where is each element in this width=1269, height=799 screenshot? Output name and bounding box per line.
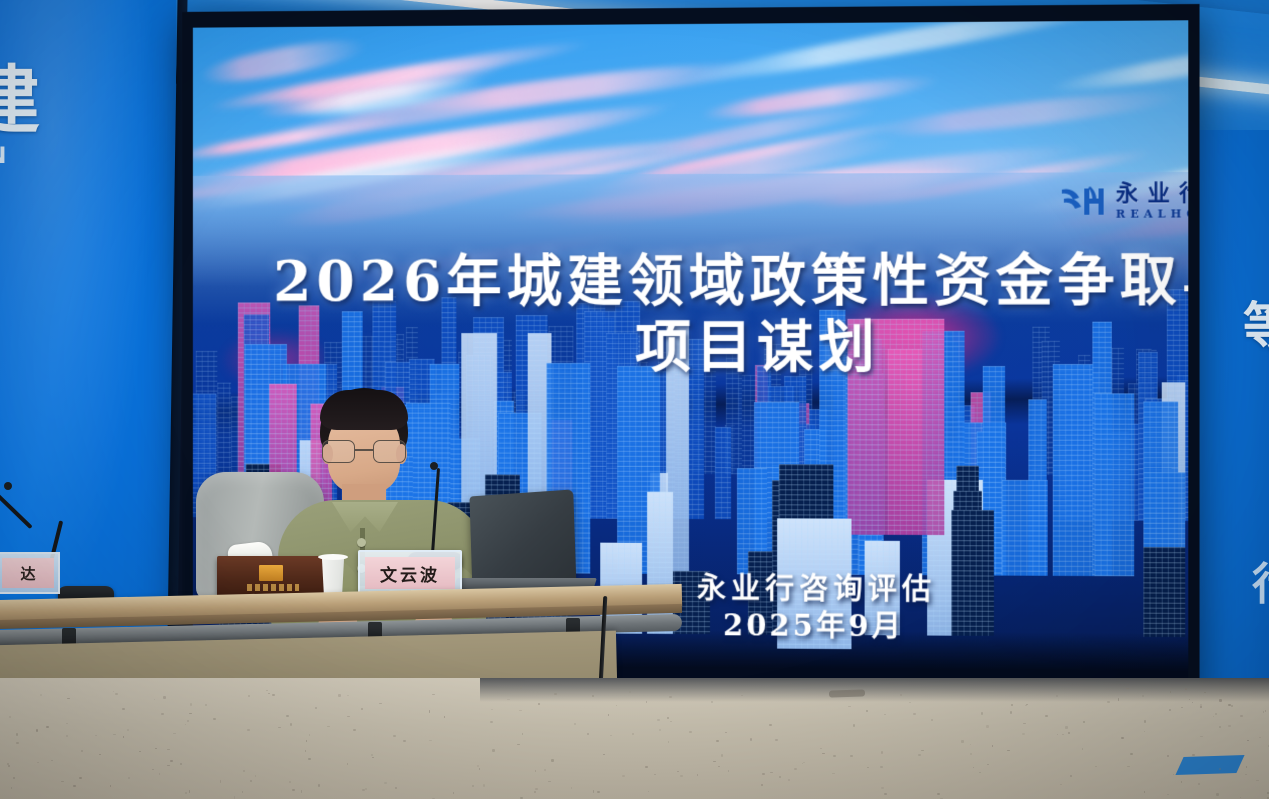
floor-texture-speck — [180, 763, 182, 765]
slide-footer: 永业行咨询评估 2025年9月 — [697, 570, 936, 646]
floor-texture-speck — [775, 739, 778, 741]
floor-texture-speck — [115, 693, 118, 695]
floor-texture-speck — [16, 733, 18, 735]
floor-texture-speck — [243, 770, 244, 771]
floor-texture-speck — [788, 779, 790, 781]
floor-texture-speck — [610, 735, 612, 736]
sky-cloud — [1046, 25, 1188, 100]
city-building — [1144, 547, 1186, 637]
floor-texture-speck — [1200, 736, 1203, 737]
brand-name-en: REALHOM — [1116, 208, 1188, 219]
floor-texture-speck — [534, 791, 536, 793]
floor-texture-speck — [616, 705, 617, 706]
floor-texture-speck — [986, 725, 989, 727]
microphone-head-icon — [430, 462, 438, 470]
floor-texture-speck — [429, 710, 431, 713]
city-building — [1094, 394, 1134, 577]
floor-texture-speck — [1219, 768, 1222, 770]
wall-right-glyph: 等 — [1243, 300, 1269, 430]
paper-cup-rim — [318, 554, 348, 560]
floor-texture-speck — [308, 758, 310, 760]
floor-texture-speck — [1121, 737, 1124, 739]
glasses-lens-right — [373, 440, 406, 463]
floor-texture-speck — [189, 713, 192, 714]
slide-footer-date: 2025年9月 — [697, 606, 936, 646]
city-building — [1002, 480, 1047, 576]
city-haze — [193, 172, 1188, 324]
floor-texture-speck — [315, 707, 317, 708]
nameplate-left: 达 — [0, 552, 60, 594]
floor-texture-speck — [1216, 793, 1219, 796]
floor-texture-speck — [190, 703, 192, 705]
floor-texture-speck — [309, 734, 310, 735]
floor-texture-speck — [353, 729, 356, 731]
floor-texture-speck — [669, 696, 672, 698]
floor-texture-speck — [551, 759, 554, 762]
floor-texture-speck — [1107, 701, 1110, 703]
brand-text: 永业行 REALHOM — [1116, 182, 1188, 220]
floor-texture-speck — [517, 744, 520, 745]
floor-texture-speck — [1240, 797, 1241, 798]
floor-texture-speck — [1256, 780, 1259, 782]
floor-texture-speck — [163, 696, 166, 699]
floor-texture-speck — [327, 726, 330, 727]
floor-texture-speck — [61, 781, 64, 782]
floor-texture-speck — [884, 793, 887, 795]
conference-room-scene: 建 AN 等 行 — [0, 0, 1269, 799]
person-shirt-button — [357, 538, 366, 547]
floor-texture-speck — [1144, 791, 1145, 793]
nameplate-left-text: 达 — [20, 563, 35, 584]
floor-texture-speck — [1127, 766, 1129, 768]
floor-texture-speck — [128, 777, 130, 779]
floor-texture-speck — [850, 755, 853, 757]
floor-texture-speck — [1026, 704, 1027, 705]
floor-texture-speck — [361, 708, 363, 710]
floor-texture-speck — [554, 693, 557, 694]
brand-name-cn: 永业行 — [1116, 182, 1188, 205]
floor-texture-speck — [507, 699, 510, 700]
sky-cloud — [874, 85, 1185, 143]
floor-texture-speck — [347, 695, 349, 696]
floor-texture-speck — [393, 735, 396, 736]
floor-texture-speck — [718, 766, 720, 767]
floor-texture-speck — [1118, 698, 1119, 700]
floor-texture-speck — [937, 793, 940, 795]
floor-texture-speck — [1215, 713, 1216, 715]
floor-texture-speck — [79, 777, 82, 779]
person-hair-front — [320, 390, 408, 430]
floor-texture-speck — [853, 724, 856, 726]
floor-texture-speck — [1192, 754, 1195, 756]
floor-texture-speck — [1167, 794, 1168, 795]
floor-shadow — [480, 678, 1269, 702]
floor-texture-speck — [242, 791, 243, 793]
floor-texture-speck — [992, 745, 993, 747]
floor-tape-marker — [1175, 755, 1244, 775]
laptop — [469, 489, 576, 585]
floor-texture-speck — [608, 714, 609, 716]
floor-texture-speck — [646, 701, 647, 704]
wall-logo-glyph: 建 — [0, 62, 52, 140]
floor-texture-speck — [931, 719, 932, 721]
floor-texture-speck — [372, 757, 374, 758]
gift-box-emblem-icon — [259, 565, 283, 581]
slide-brand-logo: 永业行 REALHOM — [1060, 182, 1188, 220]
floor-texture-speck — [247, 729, 250, 731]
floor-texture-speck — [1144, 720, 1147, 722]
floor-texture-speck — [721, 754, 723, 756]
floor-texture-speck — [848, 706, 851, 707]
floor-texture-speck — [173, 733, 176, 734]
floor-texture-speck — [629, 691, 631, 693]
floor-texture-speck — [301, 790, 302, 792]
floor-texture-speck — [1185, 688, 1187, 690]
floor-texture-speck — [711, 701, 713, 702]
floor-texture-speck — [713, 761, 716, 762]
floor-texture-speck — [1007, 750, 1010, 751]
floor-texture-speck — [668, 741, 669, 743]
floor-texture-speck — [384, 782, 387, 784]
glasses-lens-left — [322, 440, 355, 463]
city-building — [1053, 364, 1093, 576]
floor-texture-speck — [881, 751, 883, 753]
floor-texture-speck — [159, 773, 160, 774]
floor-texture-speck — [794, 768, 796, 770]
floor-texture-speck — [918, 754, 921, 756]
gift-box-text-mark — [247, 584, 299, 591]
floor-texture-speck — [161, 713, 164, 715]
floor-texture-speck — [1023, 723, 1026, 724]
floor-texture-speck — [1045, 715, 1047, 716]
floor-texture-speck — [318, 784, 319, 786]
floor-texture-speck — [1062, 734, 1064, 735]
floor-texture-speck — [290, 723, 292, 725]
floor-texture-speck — [833, 755, 836, 757]
floor-texture-speck — [187, 720, 188, 722]
floor-texture-speck — [1070, 775, 1072, 777]
floor-texture-speck — [16, 742, 19, 744]
wall-right-glyph-secondary: 行 — [1252, 560, 1269, 640]
floor-texture-speck — [1219, 699, 1222, 702]
floor-texture-speck — [286, 715, 289, 716]
floor-texture-speck — [40, 694, 41, 696]
floor-texture-speck — [535, 788, 537, 790]
floor-texture-speck — [880, 766, 883, 768]
floor-texture-speck — [866, 710, 869, 711]
floor-texture-speck — [1010, 711, 1012, 714]
floor-texture-speck — [429, 740, 432, 741]
floor-texture-speck — [1228, 704, 1231, 706]
floor-texture-speck — [1065, 726, 1068, 728]
floor-texture-speck — [645, 766, 647, 768]
wall-logo-sub: AN — [0, 144, 52, 169]
floor-texture-speck — [913, 713, 916, 715]
city-building — [217, 383, 231, 473]
wall-left-logo: 建 AN — [0, 62, 52, 182]
floor-texture-speck — [13, 777, 14, 779]
floor-texture-speck — [185, 792, 187, 794]
glasses-bridge — [355, 449, 373, 451]
floor-texture-speck — [657, 719, 660, 721]
floor-texture-speck — [250, 780, 252, 782]
floor-texture-speck — [761, 784, 763, 785]
floor-texture-speck — [961, 740, 964, 742]
floor-texture-speck — [403, 740, 406, 742]
floor-texture-speck — [268, 693, 270, 694]
floor-texture-speck — [362, 789, 365, 791]
nameplate-left-card: 达 — [2, 558, 54, 588]
floor-texture-speck — [220, 780, 222, 782]
floor-texture-speck — [36, 729, 38, 732]
city-building-neon — [888, 349, 922, 535]
floor-texture-speck — [432, 694, 435, 695]
city-building — [715, 427, 732, 519]
floor-texture-speck — [139, 751, 141, 752]
floor-texture-speck — [1126, 688, 1129, 689]
floor-texture-speck — [11, 787, 12, 789]
glasses-icon — [322, 440, 406, 464]
floor-texture-speck — [167, 749, 170, 750]
floor-texture-speck — [741, 695, 743, 696]
floor-texture-speck — [338, 694, 341, 696]
floor-texture-speck — [490, 721, 493, 723]
floor-texture-speck — [1083, 721, 1085, 723]
floor-texture-speck — [278, 727, 280, 728]
nameplate-text: 文云波 — [380, 561, 440, 586]
floor-texture-speck — [152, 769, 154, 770]
floor-texture-speck — [444, 716, 445, 718]
floor-texture-speck — [371, 754, 373, 755]
floor-texture-speck — [1082, 748, 1083, 750]
city-building — [951, 510, 994, 636]
floor-texture-speck — [347, 763, 348, 765]
floor-texture-speck — [1228, 725, 1231, 727]
floor-texture-speck — [9, 716, 10, 718]
floor-texture-speck — [832, 773, 835, 774]
floor-texture-speck — [520, 686, 522, 688]
nameplate-card: 文云波 — [365, 557, 455, 589]
floor-texture-speck — [185, 724, 186, 725]
floor-texture-speck — [1144, 731, 1145, 732]
floor-texture-speck — [981, 712, 983, 714]
floor-texture-speck — [1022, 733, 1025, 735]
floor-texture-speck — [492, 749, 495, 751]
yh-monogram-icon — [1060, 184, 1107, 218]
floor-texture-speck — [622, 775, 625, 777]
wall-right — [1196, 130, 1269, 730]
microphone-head-left-icon — [4, 482, 12, 490]
floor-texture-speck — [680, 775, 682, 776]
floor-texture-speck — [867, 767, 869, 768]
floor-texture-speck — [1181, 781, 1182, 783]
floor-texture-speck — [472, 785, 474, 787]
slide-footer-org: 永业行咨询评估 — [697, 570, 936, 607]
floor-texture-speck — [762, 773, 765, 775]
floor-texture-speck — [1170, 691, 1171, 693]
floor-texture-speck — [1169, 709, 1171, 711]
floor-mark — [829, 689, 865, 697]
floor-texture-speck — [1130, 753, 1133, 755]
